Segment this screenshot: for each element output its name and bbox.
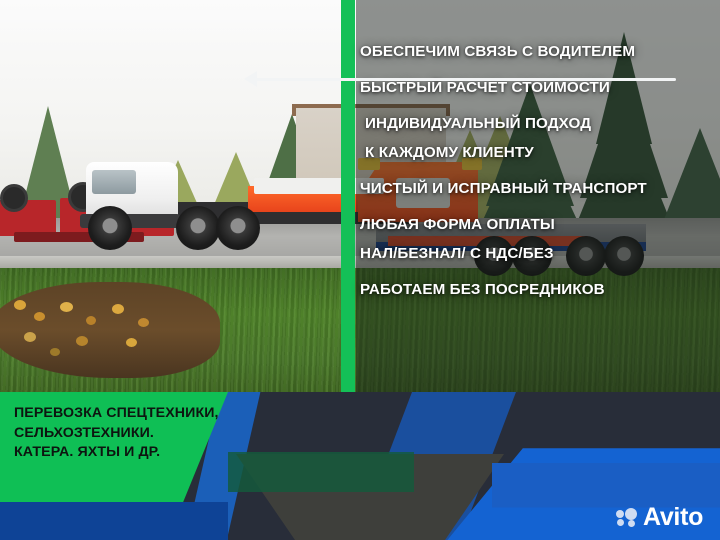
headline-line-1: ПЕРЕВОЗКА СПЕЦТЕХНИКИ, [14,404,304,424]
headline-line-3: КАТЕРА. ЯХТЫ И ДР. [14,443,304,463]
benefit-item: ОБЕСПЕЧИМ СВЯЗЬ С ВОДИТЕЛЕМ [360,44,720,60]
blue-bottom-bar [0,502,228,540]
avito-dots-icon [616,508,638,527]
benefit-item: К КАЖДОМУ КЛИЕНТУ [360,145,720,161]
headline-line-2: СЕЛЬХОЗТЕХНИКИ. [14,424,304,444]
benefits-list: ОБЕСПЕЧИМ СВЯЗЬ С ВОДИТЕЛЕМ БЫСТРЫЙ РАСЧ… [360,44,720,298]
benefit-item: БЫСТРЫЙ РАСЧЕТ СТОИМОСТИ [360,80,720,96]
flower-bed [0,282,220,378]
left-arrow-icon [248,78,676,81]
advertisement-banner: ОБЕСПЕЧИМ СВЯЗЬ С ВОДИТЕЛЕМ БЫСТРЫЙ РАСЧ… [0,0,720,540]
benefit-item: ИНДИВИДУАЛЬНЫЙ ПОДХОД [360,116,720,132]
avito-watermark: Avito [616,505,703,530]
benefit-item: ЛЮБАЯ ФОРМА ОПЛАТЫ [360,217,720,233]
left-arrow-head-icon [244,71,257,87]
green-divider-stripe [341,0,355,400]
cab-window [92,170,136,194]
benefit-item: РАБОТАЕМ БЕЗ ПОСРЕДНИКОВ [360,282,720,298]
benefit-item: ЧИСТЫЙ И ИСПРАВНЫЙ ТРАНСПОРТ [360,181,720,197]
avito-wordmark: Avito [643,505,703,530]
benefit-item: НАЛ/БЕЗНАЛ/ С НДС/БЕЗ [360,246,720,262]
headline-banner: ПЕРЕВОЗКА СПЕЦТЕХНИКИ, СЕЛЬХОЗТЕХНИКИ. К… [14,404,304,463]
